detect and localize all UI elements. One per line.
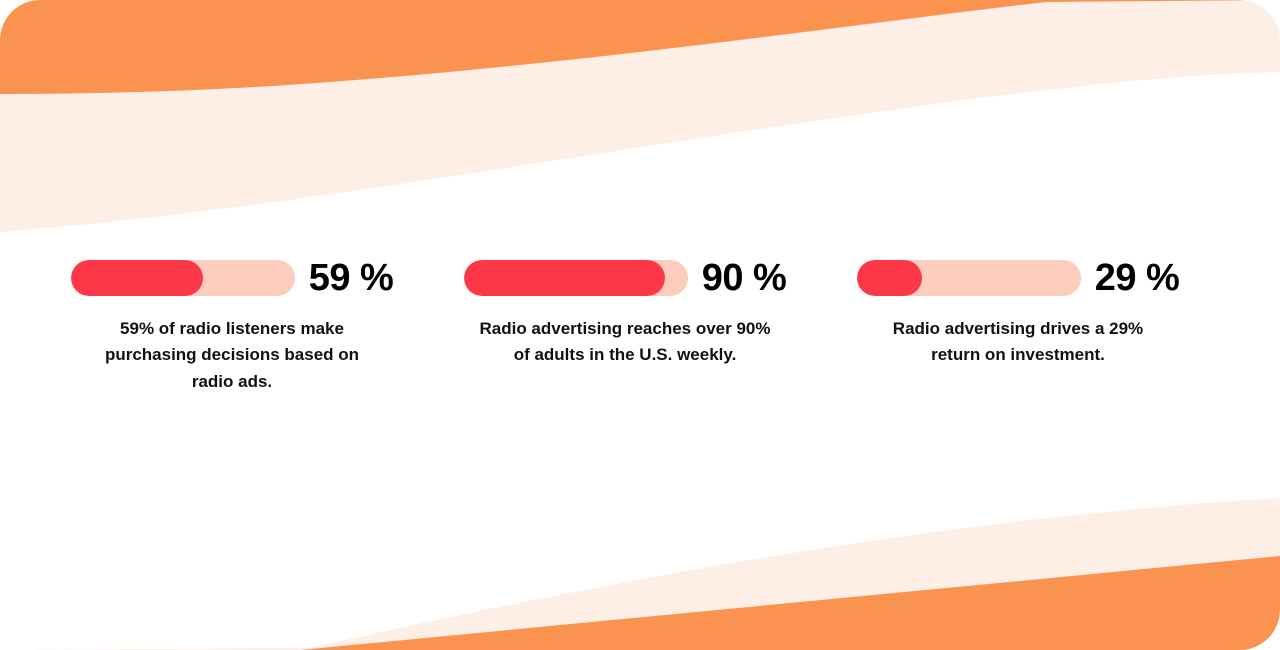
top-orange-wave: [0, 0, 1280, 94]
progress-bar-fill-3: [857, 260, 922, 296]
stat-block-1: 59 % 59% of radio listeners make purchas…: [40, 252, 424, 395]
percentage-label-3: 29 %: [1095, 259, 1180, 297]
progress-bar-track-2: [464, 260, 688, 296]
percentage-label-1: 59 %: [309, 259, 394, 297]
progress-bar-row-2: 90 %: [464, 252, 787, 304]
percentage-label-2: 90 %: [702, 259, 787, 297]
stats-row: 59 % 59% of radio listeners make purchas…: [0, 252, 1280, 395]
stat-caption-3: Radio advertising drives a 29% return on…: [868, 316, 1168, 369]
stat-block-3: 29 % Radio advertising drives a 29% retu…: [826, 252, 1210, 369]
bottom-orange-wave: [300, 556, 1280, 650]
progress-bar-fill-2: [464, 260, 666, 296]
stat-block-2: 90 % Radio advertising reaches over 90% …: [433, 252, 817, 369]
progress-bar-row-3: 29 %: [857, 252, 1180, 304]
bottom-peach-wave: [0, 498, 1280, 650]
progress-bar-fill-1: [71, 260, 203, 296]
stat-caption-1: 59% of radio listeners make purchasing d…: [82, 316, 382, 395]
progress-bar-track-1: [71, 260, 295, 296]
progress-bar-row-1: 59 %: [71, 252, 394, 304]
stat-caption-2: Radio advertising reaches over 90% of ad…: [475, 316, 775, 369]
top-peach-wave: [0, 0, 1280, 232]
progress-bar-track-3: [857, 260, 1081, 296]
infographic-card: 59 % 59% of radio listeners make purchas…: [0, 0, 1280, 650]
